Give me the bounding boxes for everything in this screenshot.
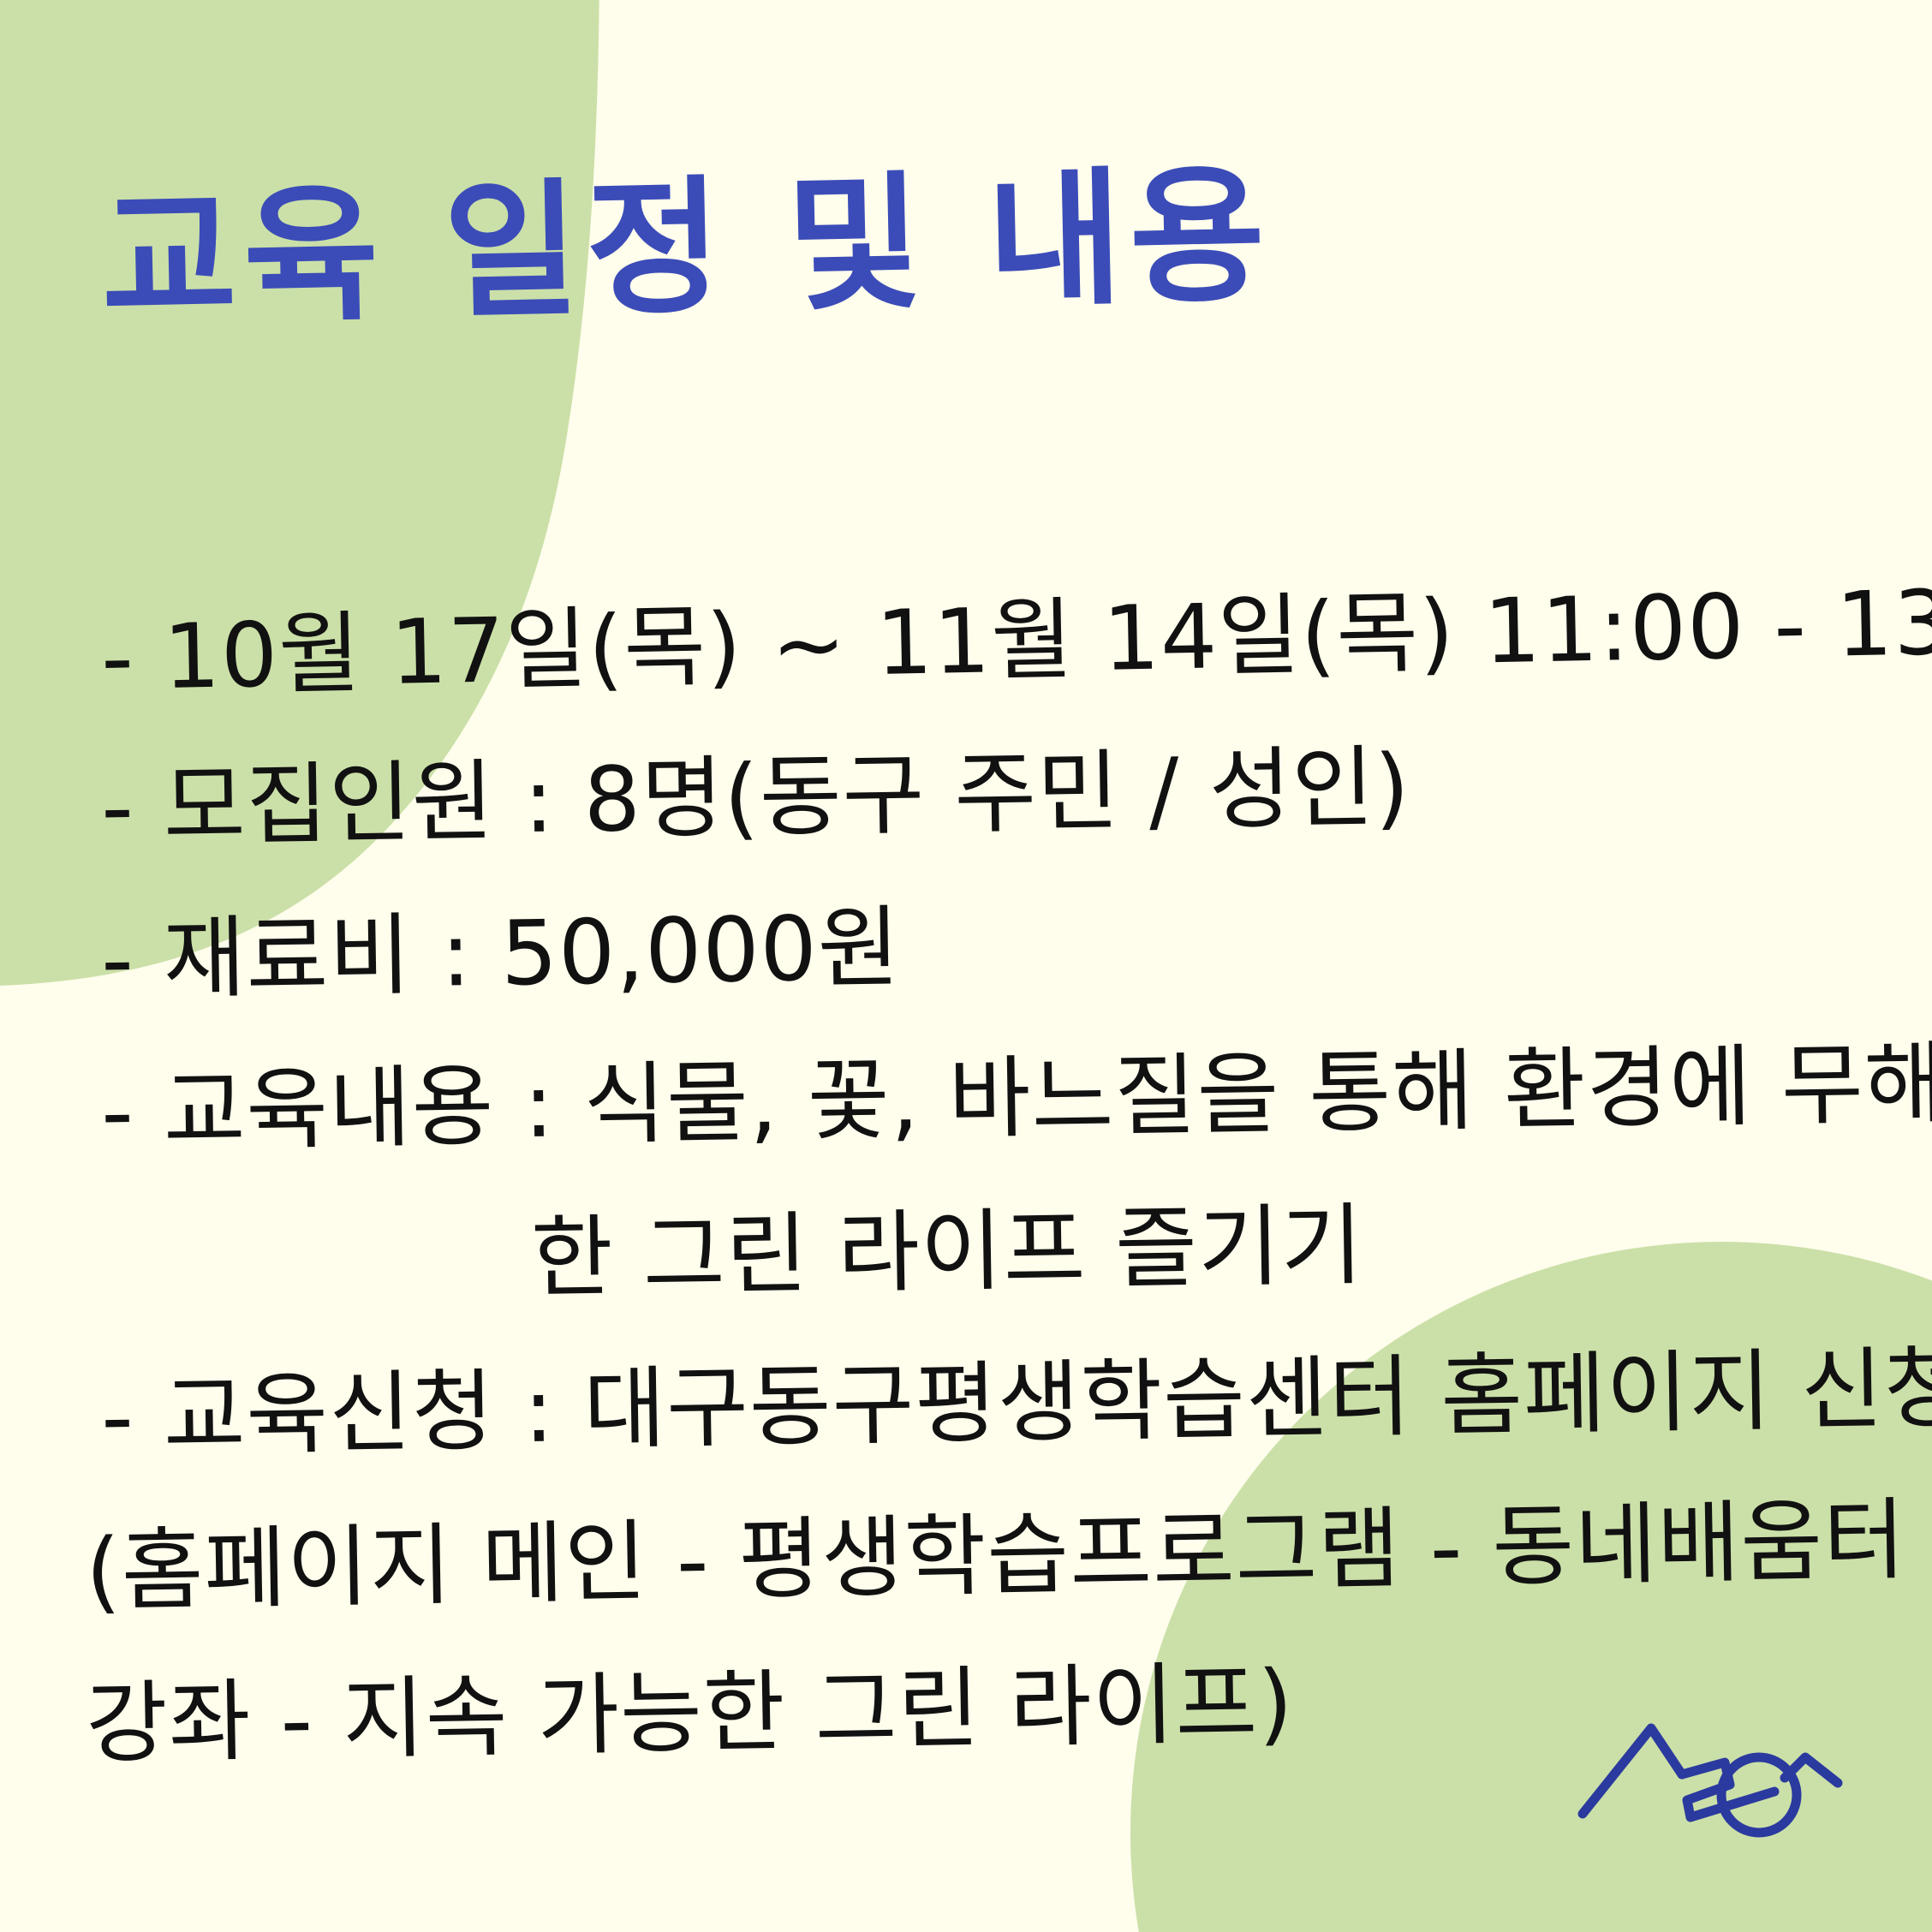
detail-line-material-fee: - 재료비 : 50,000원 (0, 855, 1932, 1037)
poster-canvas: 교육 일정 및 내용 - 10월 17일(목) ~ 11월 14일(목) 11:… (0, 0, 1932, 1932)
siso-mark-logo-icon (1572, 1713, 1846, 1884)
logo-left-peak (1583, 1728, 1682, 1814)
detail-line-curriculum: - 교육내용 : 식물, 꽃, 바느질을 통해 환경에 무해 (0, 1007, 1932, 1190)
page-title: 교육 일정 및 내용 (99, 162, 1273, 334)
detail-line-capacity: - 모집인원 : 8명(동구 주민 / 성인) (0, 702, 1932, 885)
program-details-list: - 10월 17일(목) ~ 11월 14일(목) 11:00 - 13:00 … (0, 565, 1932, 1785)
detail-line-curriculum-cont: 한 그린 라이프 즐기기 (0, 1160, 1932, 1342)
